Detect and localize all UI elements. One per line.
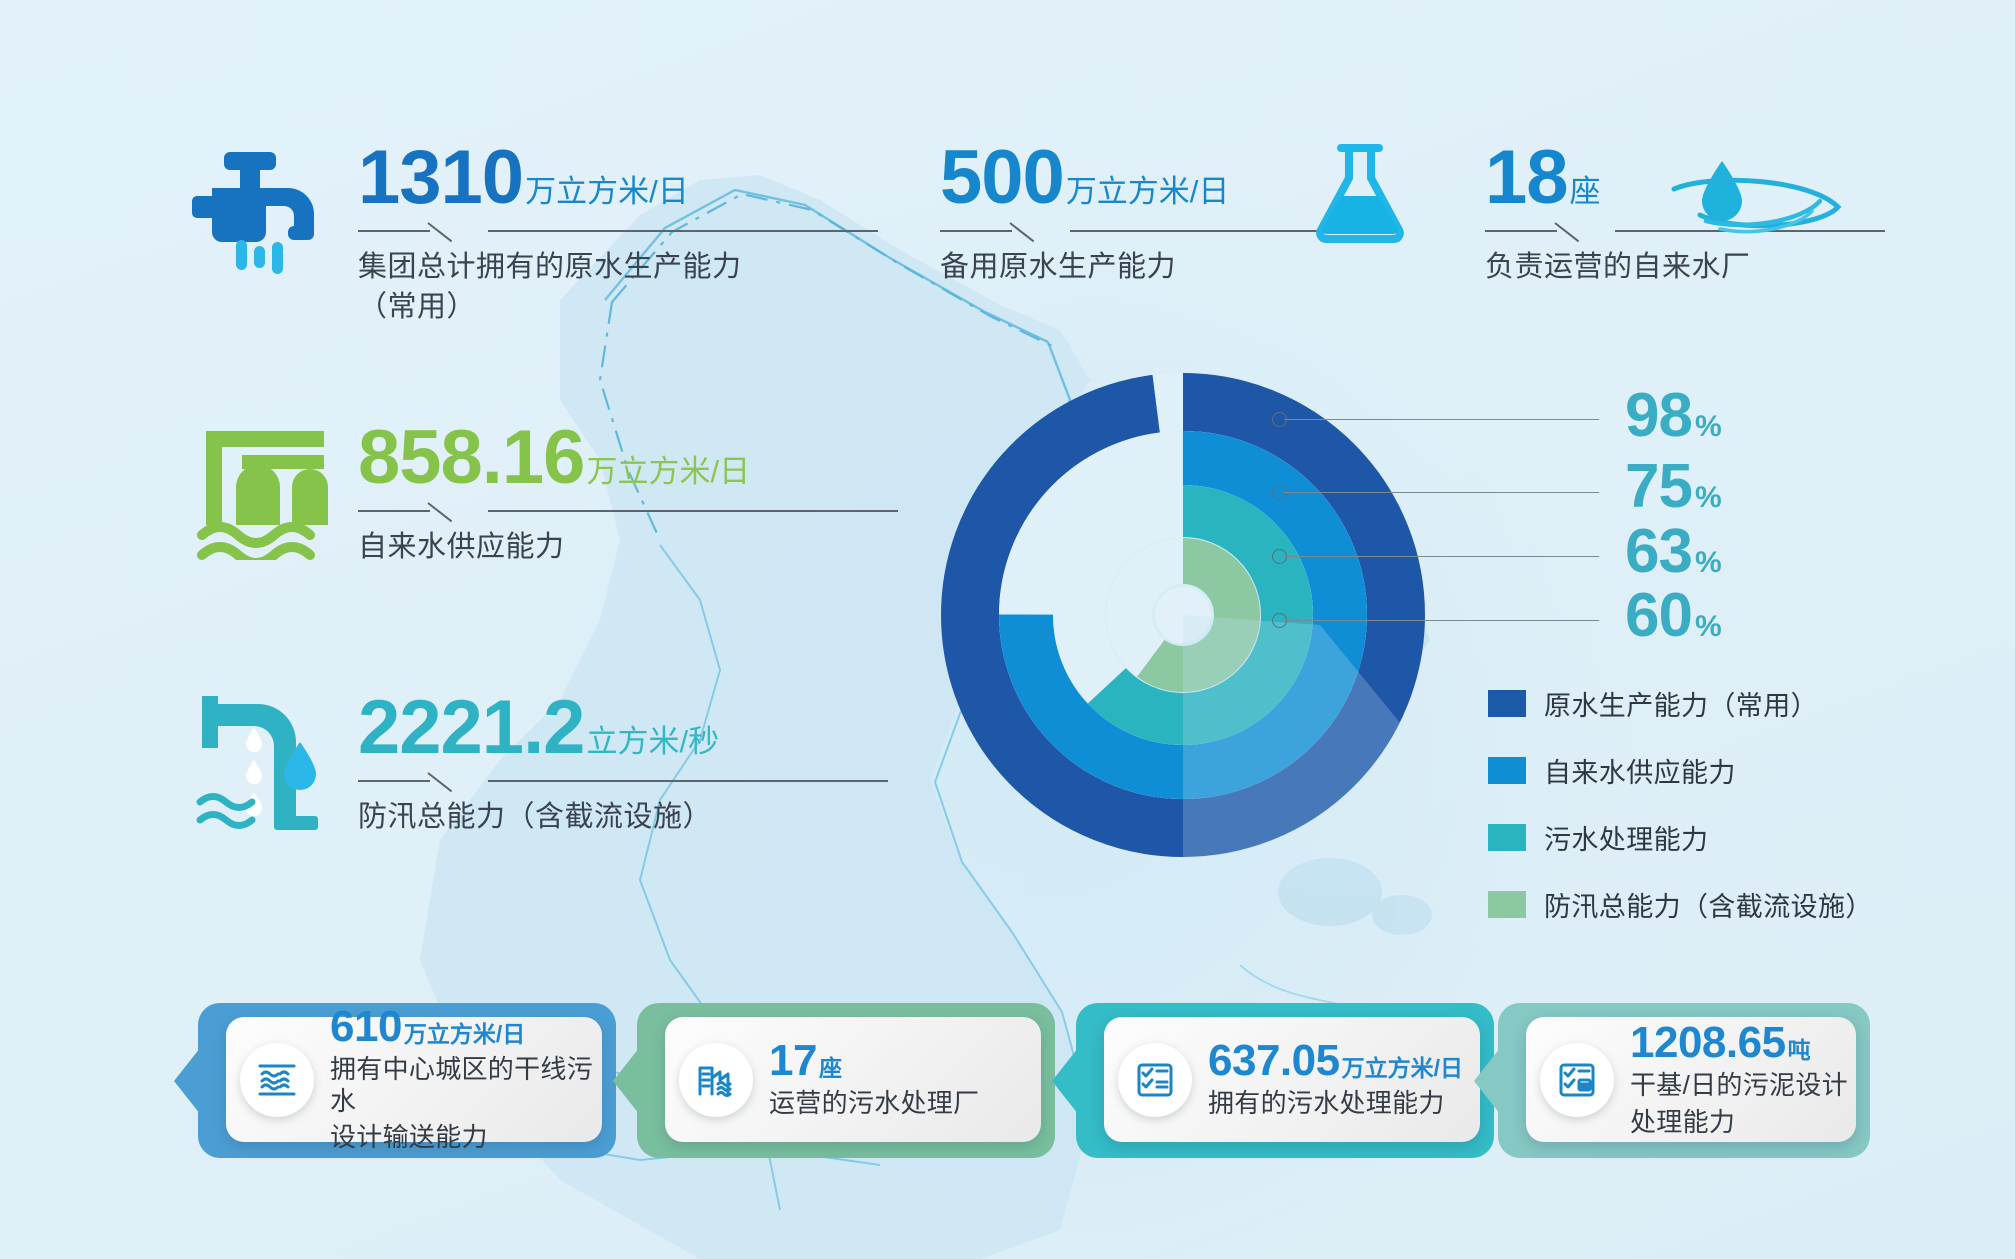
- dam-waves-icon: [196, 425, 336, 565]
- faucet-icon: [192, 150, 322, 280]
- percent-symbol: %: [1695, 548, 1722, 583]
- percent-label-63: 63 %: [1625, 521, 1722, 583]
- stat-divider: [358, 770, 978, 790]
- stat-unit: 万立方米/日: [586, 456, 750, 496]
- stat-value: 1310: [358, 140, 523, 216]
- stat-value: 500: [940, 140, 1064, 216]
- card-text: 610 万立方米/日 拥有中心城区的干线污水 设计输送能力: [330, 1005, 602, 1154]
- percent-label-75: 75 %: [1625, 456, 1722, 518]
- legend-item-sewage: 污水处理能力: [1488, 818, 1873, 857]
- legend-label: 防汛总能力（含截流设施）: [1544, 885, 1873, 924]
- stat-description-line1: 防汛总能力（含截流设施）: [358, 798, 978, 836]
- card-desc-line2: 设计输送能力: [330, 1122, 602, 1154]
- card-desc-line1: 拥有的污水处理能力: [1208, 1088, 1463, 1120]
- card-body: 610 万立方米/日 拥有中心城区的干线污水 设计输送能力: [226, 1017, 602, 1142]
- card-value: 610: [330, 1005, 402, 1049]
- percent-label-60: 60 %: [1625, 585, 1722, 647]
- card-unit: 吨: [1788, 1039, 1811, 1065]
- card-unit: 万立方米/日: [1342, 1057, 1463, 1083]
- stat-divider: [358, 500, 978, 520]
- leader-line-63: [1284, 556, 1599, 557]
- bottom-card-trunk-sewage-transport[interactable]: 610 万立方米/日 拥有中心城区的干线污水 设计输送能力: [198, 1003, 616, 1158]
- card-body: 1208.65 吨 干基/日的污泥设计 处理能力: [1526, 1017, 1856, 1142]
- percent-symbol: %: [1695, 412, 1722, 447]
- card-chevron-icon: [1474, 1043, 1504, 1119]
- legend-item-tap-water: 自来水供应能力: [1488, 751, 1873, 790]
- flask-icon: [1305, 138, 1415, 253]
- percent-value: 63: [1625, 521, 1692, 583]
- water-drop-ripple-icon: [1660, 155, 1860, 250]
- stat-description-line1: 自来水供应能力: [358, 528, 978, 566]
- card-unit: 万立方米/日: [404, 1023, 525, 1049]
- stat-divider: [358, 220, 918, 240]
- legend-label: 自来水供应能力: [1544, 751, 1736, 790]
- card-desc-line2: 处理能力: [1630, 1107, 1848, 1139]
- pipe-drop-icon: [196, 690, 346, 840]
- legend-item-flood: 防汛总能力（含截流设施）: [1488, 885, 1873, 924]
- stat-description-line2: （常用）: [358, 288, 918, 326]
- leader-line-60: [1284, 620, 1599, 621]
- card-body: 17 座 运营的污水处理厂: [665, 1017, 1041, 1142]
- percent-symbol: %: [1695, 612, 1722, 647]
- bottom-card-sludge-treatment-capacity[interactable]: 1208.65 吨 干基/日的污泥设计 处理能力: [1498, 1003, 1870, 1158]
- percent-value: 60: [1625, 585, 1692, 647]
- card-desc-line1: 拥有中心城区的干线污水: [330, 1054, 602, 1117]
- percent-symbol: %: [1695, 483, 1722, 518]
- stat-raw-water-production: 1310 万立方米/日 集团总计拥有的原水生产能力 （常用）: [358, 140, 918, 327]
- card-chevron-icon: [1052, 1043, 1082, 1119]
- legend-label: 原水生产能力（常用）: [1544, 684, 1818, 723]
- card-text: 17 座 运营的污水处理厂: [769, 1039, 979, 1120]
- percent-label-98: 98 %: [1625, 385, 1722, 447]
- stat-reserve-raw-water: 500 万立方米/日 备用原水生产能力: [940, 140, 1360, 286]
- card-text: 637.05 万立方米/日 拥有的污水处理能力: [1208, 1039, 1463, 1120]
- stat-value: 2221.2: [358, 690, 584, 766]
- stat-divider: [940, 220, 1360, 240]
- stat-value: 18: [1485, 140, 1568, 216]
- radial-gauge-chart: [940, 355, 1440, 875]
- leader-line-98: [1284, 419, 1599, 420]
- water-lines-icon: [240, 1043, 314, 1117]
- sewage-plant-icon: [679, 1043, 753, 1117]
- card-chevron-icon: [613, 1043, 643, 1119]
- card-desc-line1: 干基/日的污泥设计: [1630, 1070, 1848, 1102]
- stat-flood-control: 2221.2 立方米/秒 防汛总能力（含截流设施）: [358, 690, 978, 836]
- stat-unit: 万立方米/日: [1066, 176, 1230, 216]
- bottom-card-sewage-plants-count[interactable]: 17 座 运营的污水处理厂: [637, 1003, 1055, 1158]
- legend-swatch: [1488, 757, 1526, 784]
- stat-description-line1: 备用原水生产能力: [940, 248, 1360, 286]
- stat-unit: 万立方米/日: [525, 176, 689, 216]
- card-chevron-icon: [174, 1043, 204, 1119]
- legend-label: 污水处理能力: [1544, 818, 1708, 857]
- card-unit: 座: [819, 1057, 842, 1083]
- card-text: 1208.65 吨 干基/日的污泥设计 处理能力: [1630, 1021, 1848, 1138]
- chart-legend: 原水生产能力（常用） 自来水供应能力 污水处理能力 防汛总能力（含截流设施）: [1488, 684, 1873, 952]
- stat-description-line1: 负责运营的自来水厂: [1485, 248, 1885, 286]
- legend-swatch: [1488, 891, 1526, 918]
- bottom-card-sewage-treatment-capacity[interactable]: 637.05 万立方米/日 拥有的污水处理能力: [1076, 1003, 1494, 1158]
- stat-tap-water-supply: 858.16 万立方米/日 自来水供应能力: [358, 420, 978, 566]
- percent-value: 98: [1625, 385, 1692, 447]
- clipboard-check-icon: [1118, 1043, 1192, 1117]
- card-value: 17: [769, 1039, 817, 1083]
- card-desc-line1: 运营的污水处理厂: [769, 1088, 979, 1120]
- stat-unit: 座: [1570, 176, 1601, 216]
- stat-value: 858.16: [358, 420, 584, 496]
- leader-line-75: [1284, 492, 1599, 493]
- percent-value: 75: [1625, 456, 1692, 518]
- card-value: 1208.65: [1630, 1021, 1786, 1065]
- infographic-canvas: 1310 万立方米/日 集团总计拥有的原水生产能力 （常用） 500 万立方米/…: [0, 0, 2015, 1259]
- clipboard-list-icon: [1540, 1043, 1614, 1117]
- card-value: 637.05: [1208, 1039, 1340, 1083]
- card-body: 637.05 万立方米/日 拥有的污水处理能力: [1104, 1017, 1480, 1142]
- legend-item-raw-water: 原水生产能力（常用）: [1488, 684, 1873, 723]
- stat-description-line1: 集团总计拥有的原水生产能力: [358, 248, 918, 286]
- legend-swatch: [1488, 690, 1526, 717]
- legend-swatch: [1488, 824, 1526, 851]
- stat-unit: 立方米/秒: [586, 726, 719, 766]
